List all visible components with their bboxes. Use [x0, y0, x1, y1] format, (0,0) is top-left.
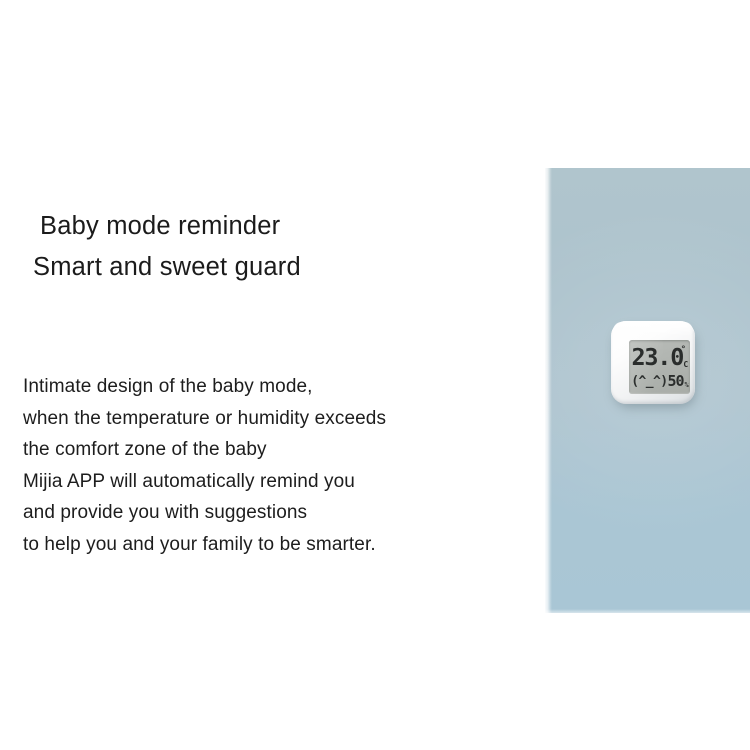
lcd-temperature-value: 23.0	[631, 347, 683, 370]
body-line-3: the comfort zone of the baby	[23, 434, 513, 466]
wall-bottom-edge-highlight	[545, 609, 750, 613]
headline-line-2: Smart and sweet guard	[33, 247, 503, 288]
product-feature-graphic: Baby mode reminder Smart and sweet guard…	[0, 0, 750, 750]
lcd-comfort-face-icon: (^_^)	[631, 375, 667, 388]
body-line-5: and provide you with suggestions	[23, 497, 513, 529]
body-line-4: Mijia APP will automatically remind you	[23, 466, 513, 498]
lcd-screen: 23.0 C ° (^_^) 50 %	[629, 340, 690, 394]
product-photo: 23.0 C ° (^_^) 50 %	[545, 168, 750, 613]
body-line-1: Intimate design of the baby mode,	[23, 371, 513, 403]
lcd-humidity-value: 50	[667, 374, 683, 389]
copy-block: Baby mode reminder Smart and sweet guard…	[0, 0, 530, 750]
headline-line-1: Baby mode reminder	[33, 206, 503, 247]
headline: Baby mode reminder Smart and sweet guard	[33, 206, 503, 288]
body-copy: Intimate design of the baby mode, when t…	[23, 371, 513, 561]
lcd-humidity-unit: %	[685, 382, 689, 389]
wall-left-edge-highlight	[545, 168, 552, 613]
lcd-degree-symbol: °	[681, 346, 686, 355]
lcd-temperature-unit: C	[683, 361, 688, 369]
lcd-temperature-row: 23.0 C °	[632, 344, 688, 370]
body-line-2: when the temperature or humidity exceeds	[23, 403, 513, 435]
lcd-humidity-row: (^_^) 50 %	[632, 371, 688, 391]
temperature-humidity-sensor: 23.0 C ° (^_^) 50 %	[611, 321, 697, 409]
device-bezel-highlight	[613, 322, 693, 336]
body-line-6: to help you and your family to be smarte…	[23, 529, 513, 561]
